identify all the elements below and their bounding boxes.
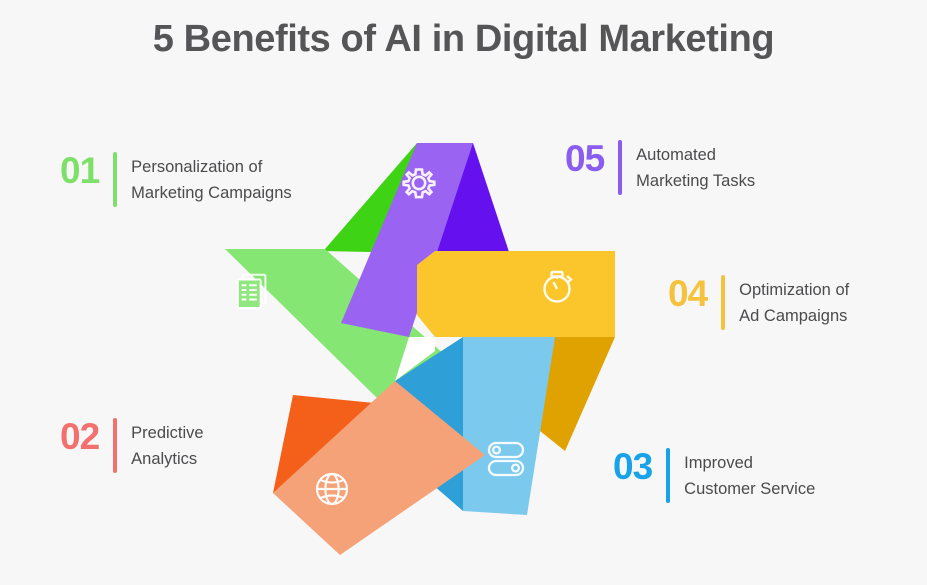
infographic-canvas: 5 Benefits of AI in Digital Marketing <box>0 0 927 585</box>
legend-item-03[interactable]: 03 Improved Customer Service <box>613 448 815 503</box>
legend-label-05: Automated Marketing Tasks <box>636 140 755 195</box>
legend-label-04: Optimization of Ad Campaigns <box>739 275 849 330</box>
legend-label-02: Predictive Analytics <box>131 418 203 473</box>
legend-number-04: 04 <box>668 275 707 312</box>
band-yellow-face <box>435 251 615 337</box>
legend-number-03: 03 <box>613 448 652 485</box>
legend-divider-05 <box>618 140 622 195</box>
legend-item-04[interactable]: 04 Optimization of Ad Campaigns <box>668 275 849 330</box>
legend-number-02: 02 <box>60 418 99 455</box>
legend-item-05[interactable]: 05 Automated Marketing Tasks <box>565 140 755 195</box>
report-document-icon <box>238 275 266 308</box>
legend-label-01: Personalization of Marketing Campaigns <box>131 152 292 207</box>
legend-divider-02 <box>113 418 117 473</box>
band-yellow-face-taper <box>417 251 435 337</box>
page-title: 5 Benefits of AI in Digital Marketing <box>0 18 927 61</box>
legend-divider-01 <box>113 152 117 207</box>
legend-item-01[interactable]: 01 Personalization of Marketing Campaign… <box>60 152 292 207</box>
legend-label-03: Improved Customer Service <box>684 448 815 503</box>
legend-item-02[interactable]: 02 Predictive Analytics <box>60 418 204 473</box>
legend-number-01: 01 <box>60 152 99 189</box>
legend-divider-03 <box>666 448 670 503</box>
legend-divider-04 <box>721 275 725 330</box>
legend-number-05: 05 <box>565 140 604 177</box>
